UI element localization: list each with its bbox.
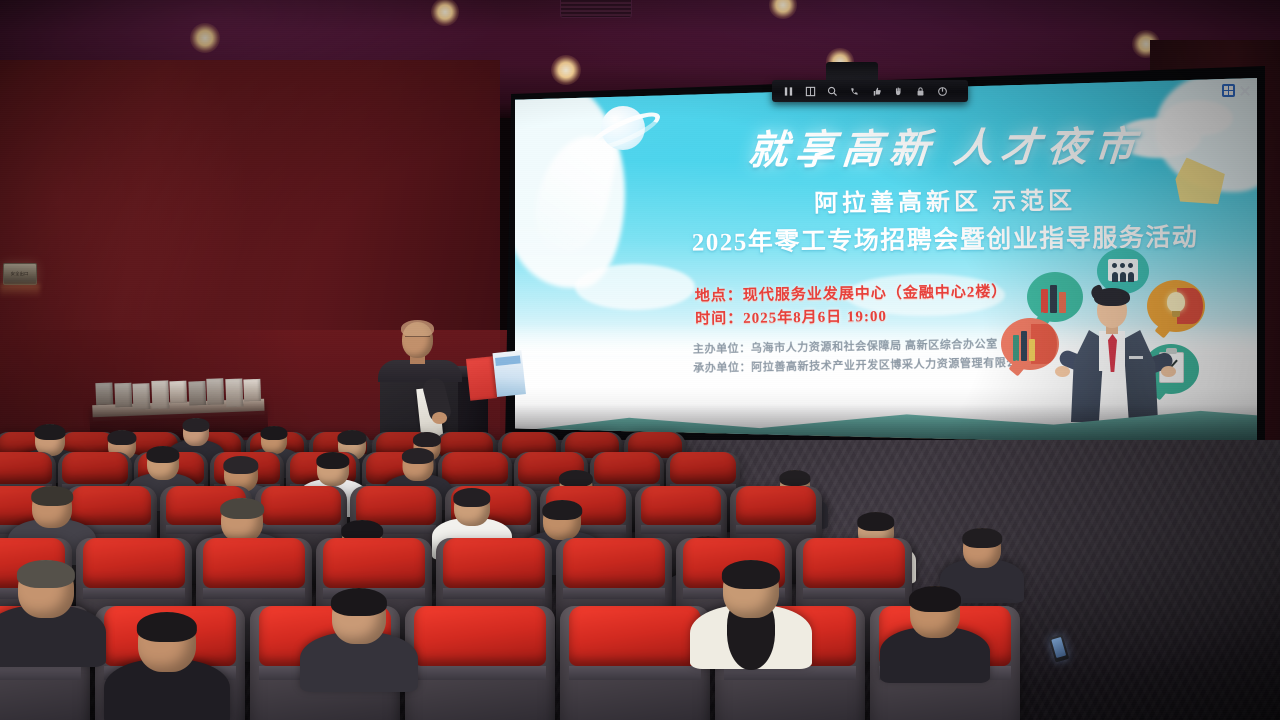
audience-hair <box>316 452 349 469</box>
hand-icon <box>893 86 904 97</box>
audience-hair <box>962 528 1002 548</box>
grid-icon <box>805 86 816 97</box>
brochure-stack <box>206 378 224 405</box>
exit-sign: 安全出口 <box>3 263 37 285</box>
auditorium-scene: 安全出口 就享高新 人才夜市 阿拉善高 <box>0 0 1280 720</box>
books-bubble <box>1001 318 1059 370</box>
audience-hair <box>107 430 136 445</box>
seat-headrest <box>203 538 305 588</box>
audience-hair <box>453 488 490 507</box>
exit-sign-text: 安全出口 <box>11 272 29 276</box>
seat-headrest <box>414 606 546 666</box>
audience-member <box>880 586 990 694</box>
audience-member <box>0 560 106 680</box>
audience-hair <box>779 470 810 486</box>
exit-sign-glow <box>0 284 40 298</box>
search-icon <box>827 86 838 97</box>
seat-headrest <box>563 538 665 588</box>
seat-headrest <box>670 452 735 484</box>
audience-member <box>300 588 418 704</box>
audience-hair <box>137 612 197 642</box>
audience-hair <box>413 432 441 447</box>
power-icon <box>937 86 948 97</box>
audience-hair <box>402 448 434 464</box>
thumbs-up-icon <box>871 86 882 97</box>
binders-icon <box>1041 289 1048 313</box>
ceiling-air-vent <box>560 0 632 18</box>
seat-headrest <box>569 606 701 666</box>
slide-corner-badge <box>1222 84 1251 97</box>
seat-headrest <box>443 538 545 588</box>
audience-hair <box>559 470 593 487</box>
phone-icon <box>849 86 860 97</box>
audience-hair <box>722 560 780 589</box>
slide-headline: 就享高新 人才夜市 <box>663 113 1228 177</box>
audience-hair <box>31 486 73 506</box>
audience-member <box>104 612 230 720</box>
pause-icon <box>783 86 794 97</box>
ceiling-spotlight <box>431 0 458 26</box>
brochure-stack <box>151 380 169 409</box>
speaker-bar-mount <box>826 62 878 82</box>
brochure-stack <box>169 381 187 404</box>
brochure-stack <box>114 383 132 408</box>
close-icon <box>1239 85 1251 97</box>
seat-headrest <box>323 538 425 588</box>
speaker-bar <box>772 80 968 102</box>
audience-hair <box>182 418 209 432</box>
seat-headrest <box>442 452 507 484</box>
seat-headrest <box>62 452 127 484</box>
audience-hair <box>34 424 65 440</box>
seat-headrest <box>736 486 817 525</box>
audience-hair <box>857 512 894 531</box>
audience-hair <box>223 456 258 474</box>
audience-hair <box>220 498 264 519</box>
projection-screen: 就享高新 人才夜市 阿拉善高新区 示范区 2025年零工专场招聘会暨创业指导服务… <box>515 78 1257 474</box>
grid-icon <box>1222 84 1235 97</box>
books-icon <box>1013 335 1019 361</box>
audience-hair <box>17 560 75 588</box>
lock-icon <box>915 86 926 97</box>
seat-headrest <box>0 452 52 484</box>
slide-subtitle-region: 阿拉善高新区 示范区 <box>665 179 1225 220</box>
audience-member <box>690 560 812 682</box>
brochure-stack <box>243 379 261 402</box>
brochure-stack <box>225 379 243 408</box>
audience-hair <box>337 430 366 445</box>
theater-seat <box>560 606 710 720</box>
brochure-stack <box>95 383 113 406</box>
audience-hair <box>260 426 287 440</box>
seat-headrest <box>641 486 722 525</box>
audience-hair <box>146 446 179 463</box>
theater-seat <box>405 606 555 720</box>
brochure-stack <box>188 381 206 406</box>
audience-hair <box>909 586 961 612</box>
audience-hair <box>331 588 387 616</box>
seat-headrest <box>803 538 905 588</box>
brochure-stack <box>132 383 150 410</box>
audience-hair <box>542 500 582 520</box>
